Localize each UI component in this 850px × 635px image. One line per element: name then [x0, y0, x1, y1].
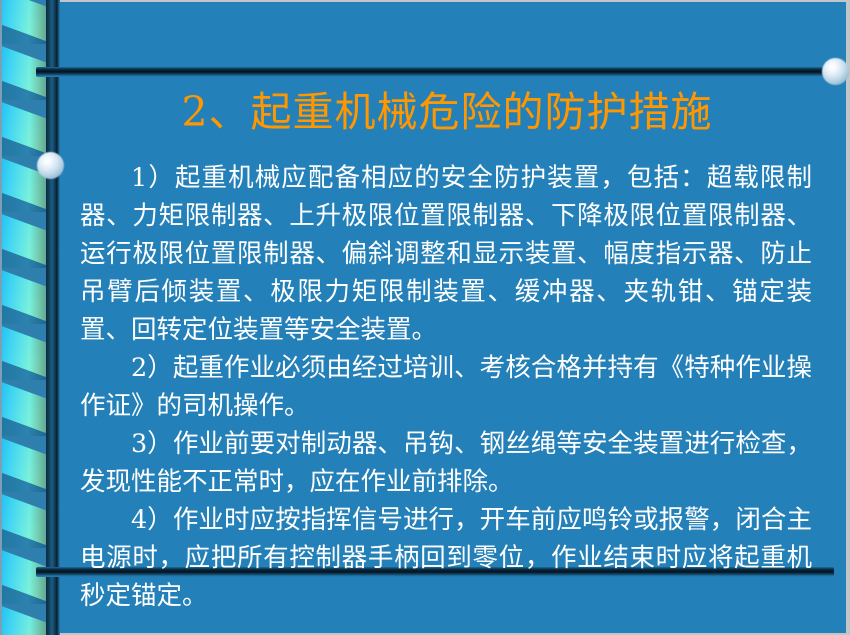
body-paragraph-4: 4）作业时应按指挥信号进行，开车前应鸣铃或报警，闭合主电源时，应把所有控制器手柄… — [80, 501, 812, 615]
slide-frame-top-edge — [0, 0, 850, 2]
page-title: 2、起重机械危险的防护措施 — [60, 78, 834, 135]
ribbon-segment — [2, 604, 48, 635]
ribbon-segment — [2, 100, 48, 156]
body-paragraph-1: 1）起重机械应配备相应的安全防护装置，包括：超载限制器、力矩限制器、上升极限位置… — [80, 159, 812, 349]
slide-content: 2、起重机械危险的防护措施 1）起重机械应配备相应的安全防护装置，包括：超载限制… — [60, 78, 834, 564]
ribbon-segment-shade — [2, 604, 48, 635]
ribbon-segment — [2, 436, 48, 492]
ribbon-segment — [2, 324, 48, 380]
presentation-slide: 2、起重机械危险的防护措施 1）起重机械应配备相应的安全防护装置，包括：超载限制… — [0, 0, 850, 635]
slide-frame-right-edge — [846, 0, 850, 635]
ribbon-segment — [2, 380, 48, 436]
top-divider-beam — [36, 67, 834, 77]
body-paragraph-2: 2）起重作业必须由经过培训、考核合格并持有《特种作业操作证》的司机操作。 — [80, 349, 812, 425]
ribbon-segment — [2, 212, 48, 268]
ribbon-segment — [2, 268, 48, 324]
decorative-ribbon-strip — [2, 0, 48, 635]
ribbon-segment — [2, 0, 48, 44]
body-paragraph-3: 3）作业前要对制动器、吊钩、钢丝绳等安全装置进行检查，发现性能不正常时，应在作业… — [80, 425, 812, 501]
slide-body: 1）起重机械应配备相应的安全防护装置，包括：超载限制器、力矩限制器、上升极限位置… — [60, 135, 834, 615]
left-vertical-rail — [46, 0, 57, 635]
ribbon-segment — [2, 492, 48, 548]
